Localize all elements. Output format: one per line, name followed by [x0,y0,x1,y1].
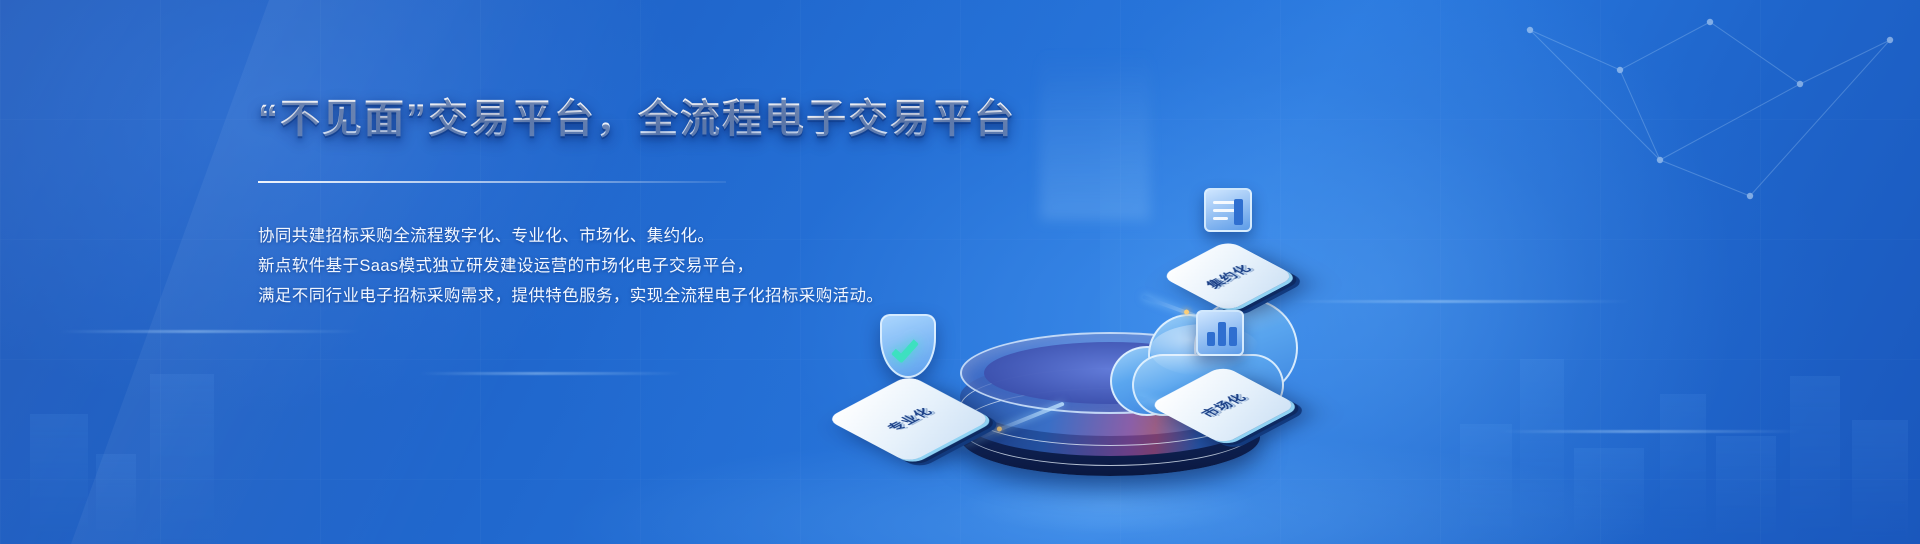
title-divider [258,181,726,183]
hero-banner: “不见面”交易平台，全流程电子交易平台 协同共建招标采购全流程数字化、专业化、市… [0,0,1920,544]
shield-check-icon [880,314,936,378]
feature-card-label: 市场化 [1195,390,1251,420]
page-title: “不见面”交易平台，全流程电子交易平台 [258,96,1018,143]
description-line: 新点软件基于Saas模式独立研发建设运营的市场化电子交易平台， [258,251,1018,281]
description-block: 协同共建招标采购全流程数字化、专业化、市场化、集约化。 新点软件基于Saas模式… [258,221,1018,311]
light-streak [419,372,680,375]
description-line: 协同共建招标采购全流程数字化、专业化、市场化、集约化。 [258,221,1018,251]
feature-card-market[interactable]: 市场化 [1170,352,1276,458]
bar-chart-icon [1196,310,1244,356]
feature-card-label: 专业化 [881,404,937,434]
description-line: 满足不同行业电子招标采购需求，提供特色服务，实现全流程电子化招标采购活动。 [258,281,1018,311]
light-beam [1040,50,1150,220]
banner-content: “不见面”交易平台，全流程电子交易平台 协同共建招标采购全流程数字化、专业化、市… [258,96,1018,311]
light-streak [59,330,360,333]
document-icon [1204,188,1252,232]
feature-card-label: 集约化 [1200,261,1256,291]
feature-card-professional[interactable]: 专业化 [850,360,968,478]
network-dots-decoration [1500,0,1920,230]
